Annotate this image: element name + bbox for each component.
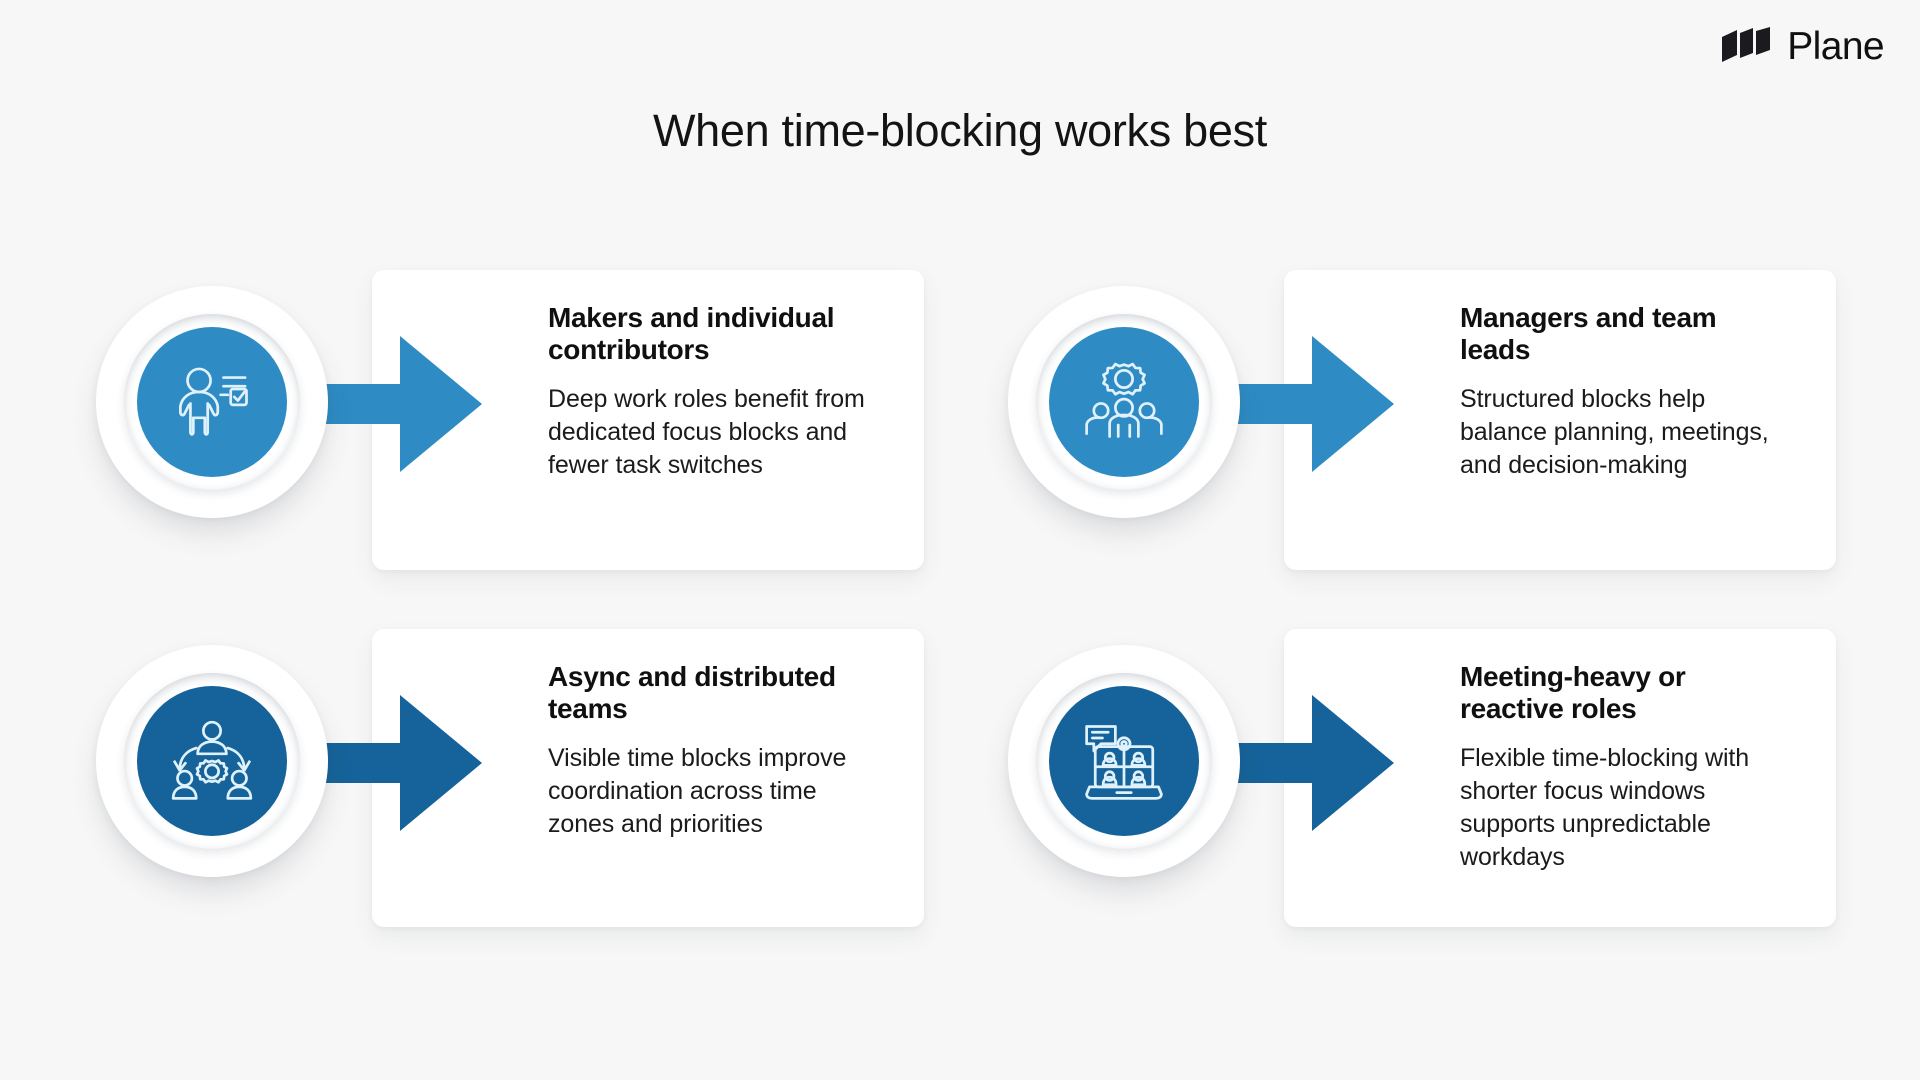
- cards-grid: Makers and individual contributors Deep …: [96, 270, 1836, 964]
- card-body: Structured blocks help balance planning,…: [1460, 383, 1792, 482]
- medallion-ring: [1036, 673, 1212, 849]
- card-item: Makers and individual contributors Deep …: [96, 270, 924, 605]
- medallion-ring: [124, 673, 300, 849]
- medallion-ring: [1036, 314, 1212, 490]
- team-with-gear-icon: [1078, 356, 1170, 448]
- medallion-disc: [137, 327, 287, 477]
- distributed-team-network-icon: [166, 715, 258, 807]
- icon-medallion: [96, 645, 328, 877]
- card-title: Makers and individual contributors: [548, 302, 880, 367]
- video-call-laptop-icon: [1078, 715, 1170, 807]
- plane-logo-mark-icon: [1720, 26, 1774, 66]
- icon-medallion: [1008, 645, 1240, 877]
- card-body: Visible time blocks improve coordination…: [548, 742, 880, 841]
- icon-medallion: [96, 286, 328, 518]
- medallion-disc: [1049, 327, 1199, 477]
- brand-name: Plane: [1787, 27, 1884, 66]
- card-body: Flexible time-blocking with shorter focu…: [1460, 742, 1792, 874]
- card-item: Managers and team leads Structured block…: [1008, 270, 1836, 605]
- medallion-disc: [1049, 686, 1199, 836]
- medallion-disc: [137, 686, 287, 836]
- card-item: Meeting-heavy or reactive roles Flexible…: [1008, 629, 1836, 964]
- page-title: When time-blocking works best: [0, 105, 1920, 157]
- person-with-checklist-icon: [166, 356, 258, 448]
- card-title: Meeting-heavy or reactive roles: [1460, 661, 1792, 726]
- medallion-ring: [124, 314, 300, 490]
- card-item: Async and distributed teams Visible time…: [96, 629, 924, 964]
- brand-logo: Plane: [1720, 26, 1884, 66]
- card-body: Deep work roles benefit from dedicated f…: [548, 383, 880, 482]
- icon-medallion: [1008, 286, 1240, 518]
- card-title: Managers and team leads: [1460, 302, 1792, 367]
- card-title: Async and distributed teams: [548, 661, 880, 726]
